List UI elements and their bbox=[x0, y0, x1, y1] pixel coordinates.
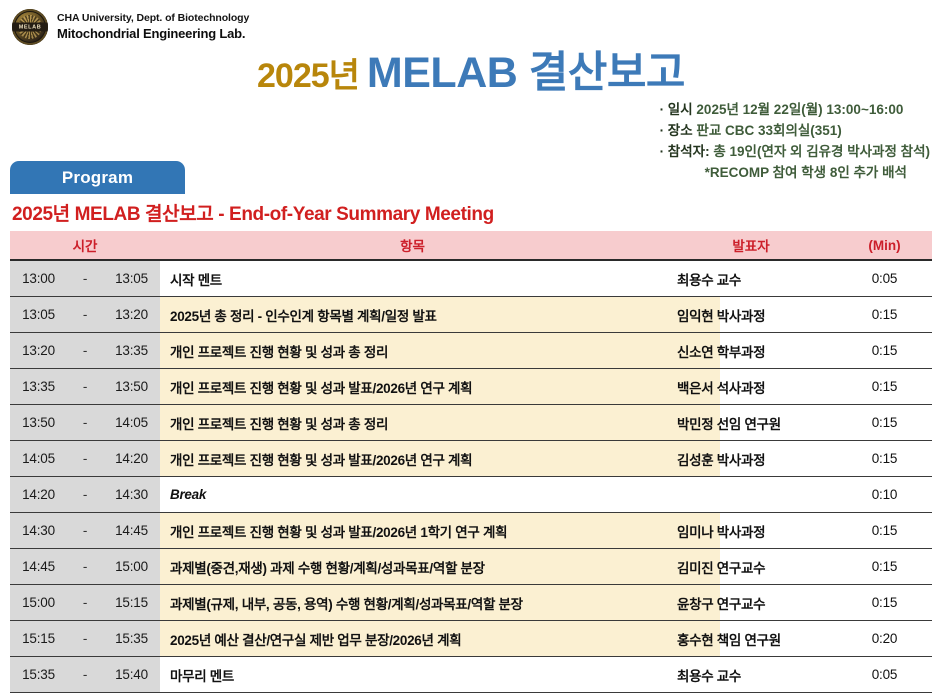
cell-minutes: 0:15 bbox=[837, 405, 932, 441]
column-header-item: 항목 bbox=[160, 231, 665, 260]
cell-speaker: 백은서 석사과정 bbox=[665, 369, 837, 405]
cell-minutes: 0:05 bbox=[837, 657, 932, 693]
schedule-table-body: 13:00-13:05시작 멘트최용수 교수0:0513:05-13:20202… bbox=[10, 260, 932, 693]
table-row: 15:15-15:352025년 예산 결산/연구실 제반 업무 분장/2026… bbox=[10, 621, 932, 657]
cell-minutes: 0:15 bbox=[837, 585, 932, 621]
cell-speaker: 윤창구 연구교수 bbox=[665, 585, 837, 621]
cell-end-time: 14:30 bbox=[103, 477, 160, 513]
meta-label-place: · 장소 bbox=[660, 123, 693, 138]
cell-minutes: 0:15 bbox=[837, 297, 932, 333]
cell-end-time: 15:00 bbox=[103, 549, 160, 585]
column-header-speaker: 발표자 bbox=[665, 231, 837, 260]
meta-label-date: · 일시 bbox=[660, 102, 693, 117]
table-row: 13:20-13:35개인 프로젝트 진행 현황 및 성과 총 정리신소연 학부… bbox=[10, 333, 932, 369]
cell-start-time: 13:50 bbox=[10, 405, 67, 441]
cell-item: 개인 프로젝트 진행 현황 및 성과 발표/2026년 연구 계획 bbox=[160, 441, 665, 477]
cell-end-time: 15:15 bbox=[103, 585, 160, 621]
cell-item: 2025년 예산 결산/연구실 제반 업무 분장/2026년 계획 bbox=[160, 621, 665, 657]
cell-end-time: 13:20 bbox=[103, 297, 160, 333]
cell-start-time: 14:20 bbox=[10, 477, 67, 513]
cell-minutes: 0:15 bbox=[837, 549, 932, 585]
cell-item: 과제별(규제, 내부, 공동, 용역) 수행 현황/계획/성과목표/역할 분장 bbox=[160, 585, 665, 621]
program-tab[interactable]: Program bbox=[10, 161, 185, 194]
table-row: 14:05-14:20개인 프로젝트 진행 현황 및 성과 발표/2026년 연… bbox=[10, 441, 932, 477]
cell-end-time: 15:40 bbox=[103, 657, 160, 693]
cell-speaker: 김미진 연구교수 bbox=[665, 549, 837, 585]
cell-end-time: 13:05 bbox=[103, 260, 160, 297]
table-row: 15:00-15:15과제별(규제, 내부, 공동, 용역) 수행 현황/계획/… bbox=[10, 585, 932, 621]
cell-end-time: 14:45 bbox=[103, 513, 160, 549]
cell-end-time: 14:05 bbox=[103, 405, 160, 441]
column-header-time: 시간 bbox=[10, 231, 160, 260]
table-row: 13:50-14:05개인 프로젝트 진행 현황 및 성과 총 정리박민정 선임… bbox=[10, 405, 932, 441]
meta-value-attendees: 총 19인(연자 외 김유경 박사과정 참석) bbox=[713, 144, 930, 159]
meta-label-attendees: · 참석자: bbox=[660, 144, 710, 159]
meta-row-note: *RECOMP 참여 학생 8인 추가 배석 bbox=[660, 163, 930, 184]
cell-time-dash: - bbox=[67, 513, 103, 549]
cell-speaker bbox=[665, 477, 837, 513]
cell-start-time: 13:20 bbox=[10, 333, 67, 369]
schedule-header-row: 시간 항목 발표자 (Min) bbox=[10, 231, 932, 260]
cell-item: 시작 멘트 bbox=[160, 260, 665, 297]
page-title-main: MELAB 결산보고 bbox=[367, 49, 685, 97]
cell-end-time: 14:20 bbox=[103, 441, 160, 477]
table-row: 13:05-13:202025년 총 정리 - 인수인계 항목별 계획/일정 발… bbox=[10, 297, 932, 333]
cell-time-dash: - bbox=[67, 369, 103, 405]
meta-row-attendees: · 참석자: 총 19인(연자 외 김유경 박사과정 참석) bbox=[660, 142, 930, 163]
cell-time-dash: - bbox=[67, 260, 103, 297]
cell-start-time: 14:05 bbox=[10, 441, 67, 477]
cell-start-time: 13:35 bbox=[10, 369, 67, 405]
page-title: 2025년MELAB 결산보고 bbox=[0, 38, 942, 100]
cell-speaker: 박민정 선임 연구원 bbox=[665, 405, 837, 441]
table-row: 13:35-13:50개인 프로젝트 진행 현황 및 성과 발표/2026년 연… bbox=[10, 369, 932, 405]
page-title-year: 2025년 bbox=[257, 57, 359, 95]
cell-time-dash: - bbox=[67, 585, 103, 621]
cell-start-time: 14:45 bbox=[10, 549, 67, 585]
cell-speaker: 임미나 박사과정 bbox=[665, 513, 837, 549]
cell-time-dash: - bbox=[67, 333, 103, 369]
cell-start-time: 14:30 bbox=[10, 513, 67, 549]
cell-item: 개인 프로젝트 진행 현황 및 성과 발표/2026년 연구 계획 bbox=[160, 369, 665, 405]
cell-end-time: 15:35 bbox=[103, 621, 160, 657]
table-row: 14:20-14:30Break0:10 bbox=[10, 477, 932, 513]
meta-value-date: 2025년 12월 22일(월) 13:00~16:00 bbox=[696, 102, 903, 117]
cell-start-time: 15:15 bbox=[10, 621, 67, 657]
cell-speaker: 최용수 교수 bbox=[665, 657, 837, 693]
cell-time-dash: - bbox=[67, 549, 103, 585]
logo-band-text: MELAB bbox=[12, 23, 48, 32]
cell-speaker: 최용수 교수 bbox=[665, 260, 837, 297]
cell-speaker: 홍수현 책임 연구원 bbox=[665, 621, 837, 657]
brand-department: CHA University, Dept. of Biotechnology bbox=[57, 12, 249, 25]
cell-item: 2025년 총 정리 - 인수인계 항목별 계획/일정 발표 bbox=[160, 297, 665, 333]
column-header-minutes: (Min) bbox=[837, 231, 932, 260]
cell-minutes: 0:15 bbox=[837, 441, 932, 477]
meta-row-place: · 장소 판교 CBC 33회의실(351) bbox=[660, 121, 930, 142]
cell-time-dash: - bbox=[67, 405, 103, 441]
cell-item: Break bbox=[160, 477, 665, 513]
cell-item: 개인 프로젝트 진행 현황 및 성과 총 정리 bbox=[160, 333, 665, 369]
cell-minutes: 0:15 bbox=[837, 369, 932, 405]
cell-item: 개인 프로젝트 진행 현황 및 성과 발표/2026년 1학기 연구 계획 bbox=[160, 513, 665, 549]
cell-start-time: 13:00 bbox=[10, 260, 67, 297]
cell-start-time: 15:35 bbox=[10, 657, 67, 693]
cell-start-time: 13:05 bbox=[10, 297, 67, 333]
meeting-meta-block: · 일시 2025년 12월 22일(월) 13:00~16:00 · 장소 판… bbox=[660, 100, 930, 184]
cell-time-dash: - bbox=[67, 441, 103, 477]
cell-end-time: 13:35 bbox=[103, 333, 160, 369]
cell-speaker: 임익현 박사과정 bbox=[665, 297, 837, 333]
table-row: 13:00-13:05시작 멘트최용수 교수0:05 bbox=[10, 260, 932, 297]
meta-row-date: · 일시 2025년 12월 22일(월) 13:00~16:00 bbox=[660, 100, 930, 121]
table-row: 15:35-15:40마무리 멘트최용수 교수0:05 bbox=[10, 657, 932, 693]
cell-item: 개인 프로젝트 진행 현황 및 성과 총 정리 bbox=[160, 405, 665, 441]
cell-speaker: 김성훈 박사과정 bbox=[665, 441, 837, 477]
cell-item: 마무리 멘트 bbox=[160, 657, 665, 693]
cell-end-time: 13:50 bbox=[103, 369, 160, 405]
schedule-table: 시간 항목 발표자 (Min) 13:00-13:05시작 멘트최용수 교수0:… bbox=[10, 231, 932, 693]
meta-value-place: 판교 CBC 33회의실(351) bbox=[696, 123, 841, 138]
cell-time-dash: - bbox=[67, 297, 103, 333]
cell-time-dash: - bbox=[67, 657, 103, 693]
cell-time-dash: - bbox=[67, 477, 103, 513]
table-row: 14:30-14:45개인 프로젝트 진행 현황 및 성과 발표/2026년 1… bbox=[10, 513, 932, 549]
cell-minutes: 0:15 bbox=[837, 513, 932, 549]
schedule-table-head: 시간 항목 발표자 (Min) bbox=[10, 231, 932, 260]
cell-item: 과제별(중견,재생) 과제 수행 현황/계획/성과목표/역할 분장 bbox=[160, 549, 665, 585]
cell-minutes: 0:05 bbox=[837, 260, 932, 297]
table-row: 14:45-15:00과제별(중견,재생) 과제 수행 현황/계획/성과목표/역… bbox=[10, 549, 932, 585]
cell-time-dash: - bbox=[67, 621, 103, 657]
program-subtitle: 2025년 MELAB 결산보고 - End-of-Year Summary M… bbox=[12, 199, 494, 226]
cell-minutes: 0:10 bbox=[837, 477, 932, 513]
cell-minutes: 0:15 bbox=[837, 333, 932, 369]
cell-minutes: 0:20 bbox=[837, 621, 932, 657]
cell-speaker: 신소연 학부과정 bbox=[665, 333, 837, 369]
cell-start-time: 15:00 bbox=[10, 585, 67, 621]
